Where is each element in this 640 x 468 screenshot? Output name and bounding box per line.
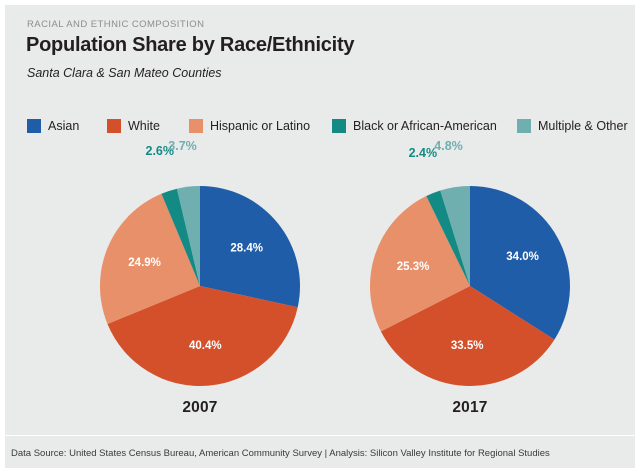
pie-svg: 34.0%33.5%25.3% [365, 181, 575, 391]
pie-slice-value-label: 33.5% [451, 340, 484, 352]
chart-legend: AsianWhiteHispanic or LatinoBlack or Afr… [27, 116, 627, 136]
legend-item-asian[interactable]: Asian [27, 116, 79, 136]
pie-slice-value-label: 25.3% [397, 261, 430, 273]
pie-slice-value-label: 40.4% [189, 340, 222, 352]
legend-item-label: Black or African-American [353, 120, 497, 133]
pie-slice-value-label: 24.9% [128, 257, 161, 269]
footer-divider [5, 435, 635, 436]
pie-area: 34.0%33.5%25.3%2.4%4.8% [330, 181, 610, 391]
legend-swatch-icon [107, 119, 121, 133]
legend-item-multiple-other[interactable]: Multiple & Other [517, 116, 628, 136]
pie-slice-value-label: 28.4% [230, 242, 263, 254]
legend-item-label: Hispanic or Latino [210, 120, 310, 133]
legend-item-black-or-african-american[interactable]: Black or African-American [332, 116, 497, 136]
pie-callout-value-label: 3.7% [168, 139, 197, 153]
kicker-label: RACIAL AND ETHNIC COMPOSITION [27, 19, 204, 30]
pie-svg: 28.4%40.4%24.9% [95, 181, 305, 391]
chart-year-label: 2007 [60, 399, 340, 417]
pie-callout-value-label: 4.8% [434, 139, 463, 153]
pie-callout-value-label: 2.4% [409, 146, 438, 160]
page-title: Population Share by Race/Ethnicity [26, 34, 354, 57]
legend-swatch-icon [27, 119, 41, 133]
pie-slice-value-label: 34.0% [506, 251, 539, 263]
pie-area: 28.4%40.4%24.9%2.6%3.7% [60, 181, 340, 391]
pie-chart-2007: 28.4%40.4%24.9%2.6%3.7% 2007 [60, 155, 340, 423]
legend-swatch-icon [332, 119, 346, 133]
legend-item-label: Multiple & Other [538, 120, 628, 133]
chart-year-label: 2017 [330, 399, 610, 417]
source-note: Data Source: United States Census Bureau… [11, 448, 550, 459]
legend-swatch-icon [189, 119, 203, 133]
legend-item-hispanic-or-latino[interactable]: Hispanic or Latino [189, 116, 310, 136]
legend-swatch-icon [517, 119, 531, 133]
legend-item-label: White [128, 120, 160, 133]
infographic-canvas: RACIAL AND ETHNIC COMPOSITION Population… [0, 0, 640, 468]
pie-chart-2017: 34.0%33.5%25.3%2.4%4.8% 2017 [330, 155, 610, 423]
legend-item-white[interactable]: White [107, 116, 160, 136]
page-subtitle: Santa Clara & San Mateo Counties [27, 66, 222, 80]
legend-item-label: Asian [48, 120, 79, 133]
